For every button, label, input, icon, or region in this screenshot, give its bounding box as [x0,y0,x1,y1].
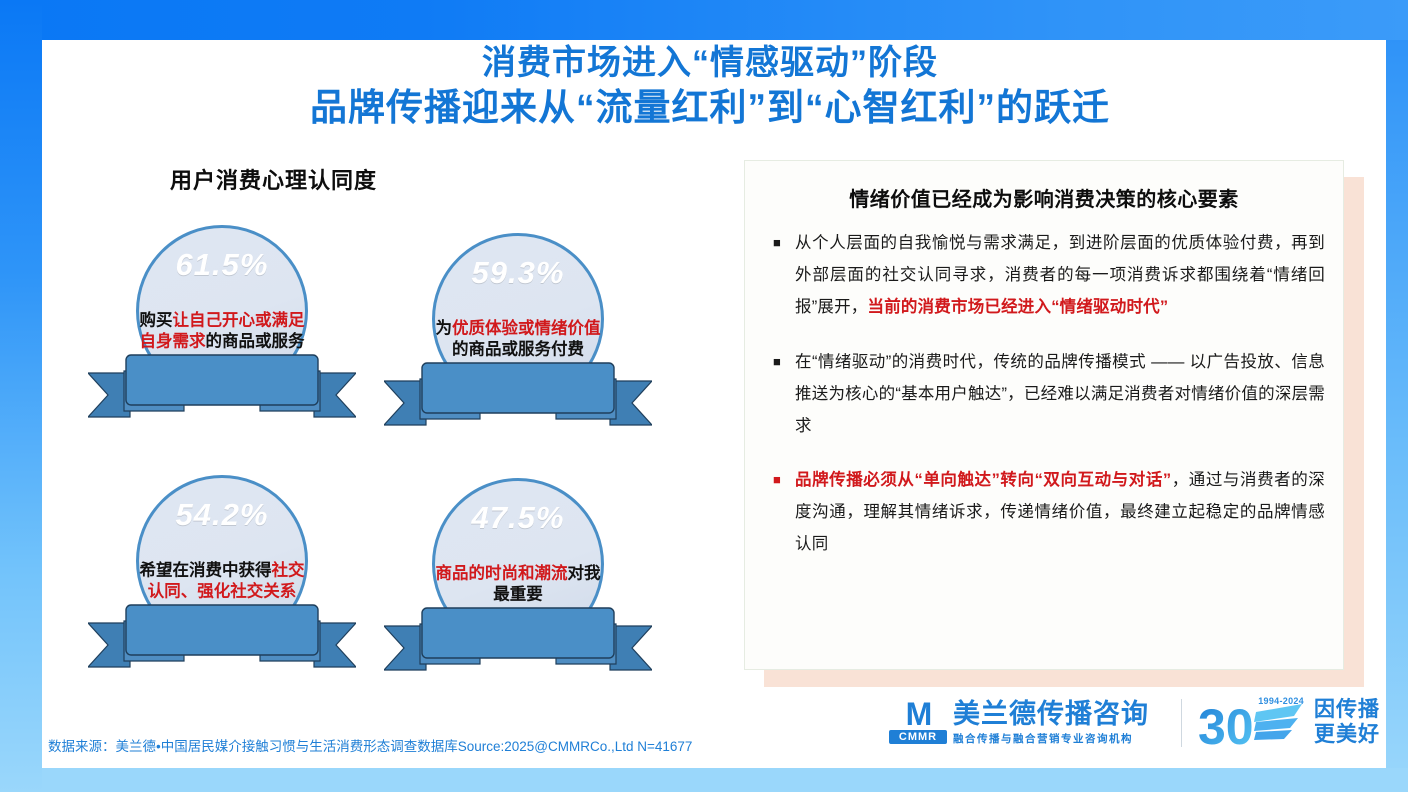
left-column: 用户消费心理认同度 购买让自己开心或满足自身需求的商品或服务 61.5% [60,155,720,695]
badge-label: 为优质体验或情绪价值的商品或服务付费 [429,318,607,362]
title-line-2: 品牌传播迎来从“流量红利”到“心智红利”的跃迁 [140,85,1280,132]
cmmr-m-letter-icon: M [889,699,947,729]
bullet-text: 从个人层面的自我愉悦与需求满足，到进阶层面的优质体验付费，再到外部层面的社交认同… [795,227,1325,324]
right-card: 情绪价值已经成为影响消费决策的核心要素 ■ 从个人层面的自我愉悦与需求满足，到进… [744,160,1344,670]
data-source-note: 数据来源：美兰德•中国居民媒介接触习惯与生活消费形态调查数据库Source:20… [48,735,692,755]
cmmr-badge-label: CMMR [889,730,947,744]
svg-text:30: 30 [1198,699,1254,752]
list-item: ■ 从个人层面的自我愉悦与需求满足，到进阶层面的优质体验付费，再到外部层面的社交… [773,227,1325,324]
anniversary-years: 1994-2024 [1258,696,1304,706]
stat-badge: 为优质体验或情绪价值的商品或服务付费 59.3% [368,233,668,448]
badge-value: 47.5% [438,500,598,536]
cmmr-mark: M CMMR [889,699,947,744]
anniversary-slogan-line-2: 更美好 [1314,723,1380,748]
badge-label: 希望在消费中获得社交认同、强化社交关系 [133,560,311,604]
frame-right-bar [1386,40,1408,792]
bullet-marker-icon: ■ [773,346,795,443]
badge-ribbon [384,361,652,437]
right-card-title: 情绪价值已经成为影响消费决策的核心要素 [745,183,1343,212]
list-item: ■ 在“情绪驱动”的消费时代，传统的品牌传播模式 —— 以广告投放、信息推送为核… [773,346,1325,443]
frame-top-bar [0,0,1408,40]
list-item: ■ 品牌传播必须从“单向触达”转向“双向互动与对话”，通过与消费者的深度沟通，理… [773,464,1325,561]
cmmr-logo: M CMMR 美兰德传播咨询 融合传播与融合营销专业咨询机构 [889,699,1149,747]
cmmr-company-name: 美兰德传播咨询 [953,699,1149,729]
anniversary-logo: 30 1994-2024 因传播 更美好 [1198,694,1380,752]
badge-ribbon [88,603,356,679]
stat-badge: 希望在消费中获得社交认同、强化社交关系 54.2% [72,475,372,690]
cmmr-wordmark: 美兰德传播咨询 融合传播与融合营销专业咨询机构 [953,699,1149,747]
frame-left-bar [0,0,42,792]
bullet-list: ■ 从个人层面的自我愉悦与需求满足，到进阶层面的优质体验付费，再到外部层面的社交… [773,227,1325,583]
logo-divider [1181,699,1182,747]
slide-title: 消费市场进入“情感驱动”阶段 品牌传播迎来从“流量红利”到“心智红利”的跃迁 [140,42,1280,131]
anniversary-slogan: 因传播 更美好 [1314,698,1380,748]
badge-value: 61.5% [142,247,302,283]
anniversary-mark-icon: 30 1994-2024 [1198,694,1306,752]
anniversary-slogan-line-1: 因传播 [1314,698,1380,723]
badge-label: 购买让自己开心或满足自身需求的商品或服务 [133,310,311,354]
footer-logos: M CMMR 美兰德传播咨询 融合传播与融合营销专业咨询机构 30 [889,688,1380,758]
bullet-marker-icon: ■ [773,227,795,324]
left-section-heading: 用户消费心理认同度 [170,163,377,195]
bullet-marker-icon: ■ [773,464,795,561]
stat-badge: 购买让自己开心或满足自身需求的商品或服务 61.5% [72,225,372,440]
bullet-text: 在“情绪驱动”的消费时代，传统的品牌传播模式 —— 以广告投放、信息推送为核心的… [795,346,1325,443]
cmmr-tagline: 融合传播与融合营销专业咨询机构 [953,731,1149,747]
badge-ribbon [88,353,356,429]
bullet-text: 品牌传播必须从“单向触达”转向“双向互动与对话”，通过与消费者的深度沟通，理解其… [795,464,1325,561]
badge-value: 59.3% [438,255,598,291]
badge-value: 54.2% [142,497,302,533]
slide-root: 消费市场进入“情感驱动”阶段 品牌传播迎来从“流量红利”到“心智红利”的跃迁 用… [0,0,1408,792]
badge-ribbon [384,606,652,682]
badge-label: 商品的时尚和潮流对我最重要 [429,563,607,607]
title-line-1: 消费市场进入“情感驱动”阶段 [140,42,1280,85]
frame-bottom-bar [42,768,1408,792]
stat-badge: 商品的时尚和潮流对我最重要 47.5% [368,478,668,693]
badge-grid: 购买让自己开心或满足自身需求的商品或服务 61.5% 为优质体验或情绪价值的商品… [60,225,720,695]
